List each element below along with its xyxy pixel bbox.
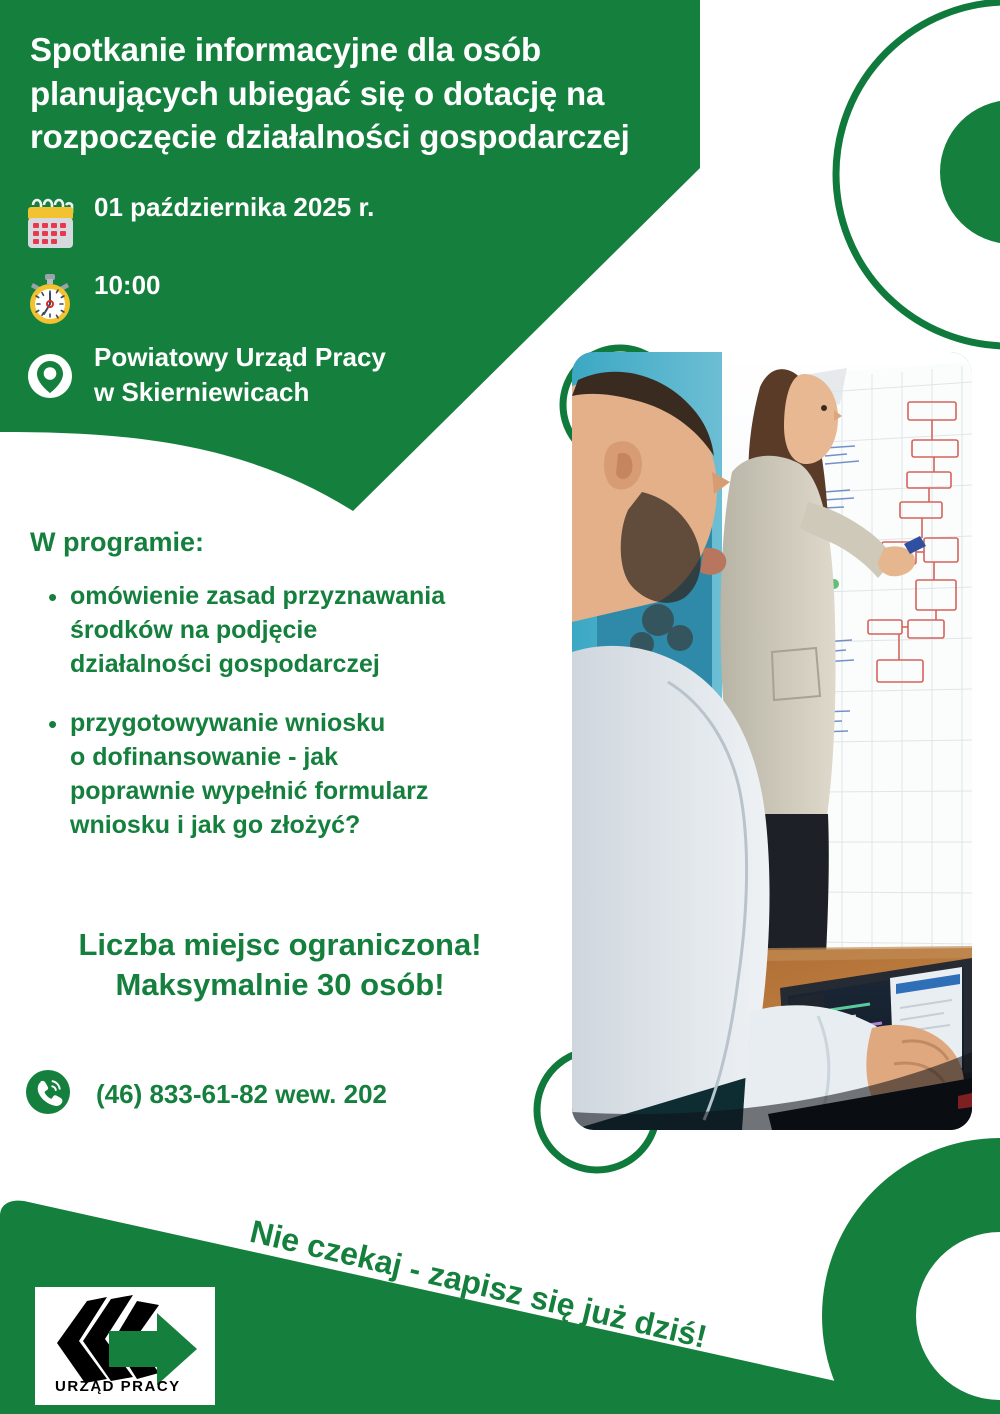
seats-limit-notice: Liczba miejsc ograniczona! Maksymalnie 3… [30, 925, 530, 1006]
detail-row-place: Powiatowy Urząd Pracy w Skierniewicach [22, 340, 386, 409]
phone-icon [24, 1068, 72, 1121]
program-item-text: omówienie zasad przyznawania środków na … [70, 580, 445, 681]
location-pin-icon [22, 340, 78, 402]
bullet-dot-icon: • [48, 707, 70, 741]
top-right-ring-outline [836, 2, 1000, 346]
calendar-icon [22, 190, 78, 252]
program-list-item: • omówienie zasad przyznawania środków n… [48, 580, 550, 681]
program-heading: W programie: [30, 527, 550, 558]
meeting-photo [572, 352, 972, 1130]
contact-row: (46) 833-61-82 wew. 202 [24, 1068, 387, 1121]
photo-illustration [572, 352, 972, 1130]
phone-number[interactable]: (46) 833-61-82 wew. 202 [72, 1079, 387, 1110]
urzad-pracy-logo: URZĄD PRACY [35, 1287, 215, 1405]
top-right-filled-circle [940, 100, 1000, 244]
footer-tagline: Nie czekaj - zapisz się już dziś! [247, 1213, 711, 1356]
logo-text: URZĄD PRACY [55, 1378, 181, 1395]
detail-time-label: 10:00 [78, 268, 161, 303]
program-list-item: • przygotowywanie wniosku o dofinansowan… [48, 707, 550, 842]
stopwatch-icon [22, 268, 78, 326]
program-item-text: przygotowywanie wniosku o dofinansowanie… [70, 707, 428, 842]
poster-root: Spotkanie informacyjne dla osób planując… [0, 0, 1000, 1414]
detail-place-label: Powiatowy Urząd Pracy w Skierniewicach [78, 340, 386, 409]
detail-row-date: 01 października 2025 r. [22, 190, 374, 252]
program-block: W programie: • omówienie zasad przyznawa… [30, 527, 550, 868]
header-block: Spotkanie informacyjne dla osób planując… [30, 28, 680, 159]
poster-title: Spotkanie informacyjne dla osób planując… [30, 28, 680, 159]
bullet-dot-icon: • [48, 580, 70, 614]
detail-row-time: 10:00 [22, 268, 161, 326]
detail-date-label: 01 października 2025 r. [78, 190, 374, 225]
